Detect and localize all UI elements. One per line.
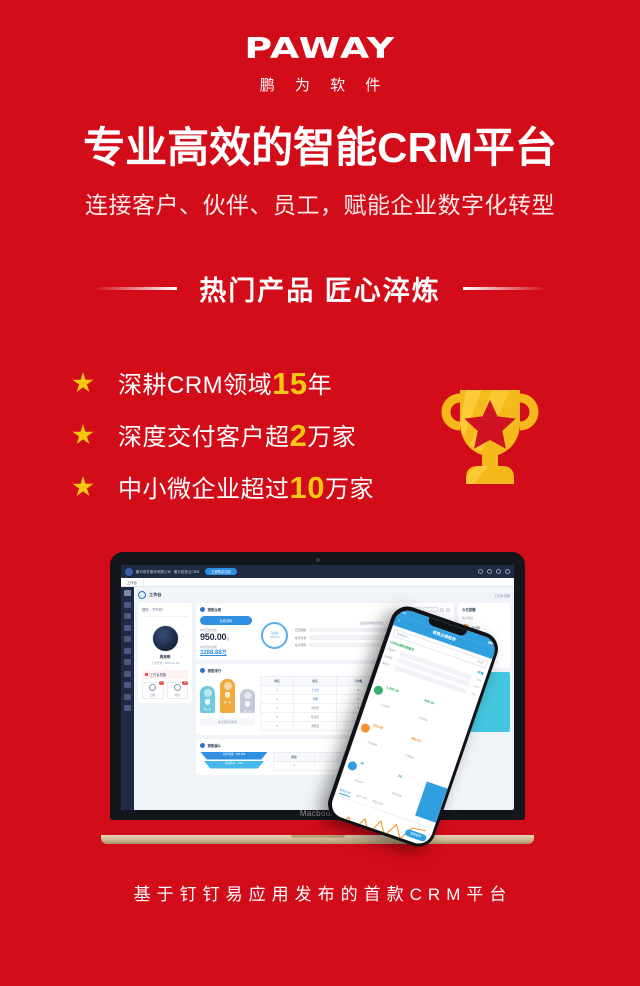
target-button[interactable]: 业绩目标 [200,616,252,625]
page-header: 工作台 工作台设置 [138,591,510,599]
podium-label: 第一名 [224,700,231,704]
sidebar-item-dashboard-icon[interactable] [124,602,131,608]
more-icon[interactable] [446,608,450,612]
workbench-icon [138,591,146,599]
stat-value-b[interactable]: 3288.88万 [200,649,256,656]
todo-item[interactable]: 3 日程 [142,682,164,699]
avatar[interactable] [152,625,179,652]
kpi-label: 新增客户 [354,778,364,784]
app-topbar: 鹏为软件股份有限公司 鹏为智慧云CRM 立即购买试用 [121,565,514,578]
list-item: 中小微企业超过10万家 [72,464,402,510]
cell-rank: 1 [261,686,294,695]
logo-wordmark: PAWAY [245,35,396,64]
podium-chart: 第二名 第一名 [200,676,255,716]
cell-rank: 2 [261,695,294,704]
sidebar-item-settings-icon[interactable] [124,682,131,688]
kpi-label: 跟进记录 [392,791,402,797]
podium-caption: 本月销售冠军榜 [200,718,255,725]
highlight-text: 中小微企业超过10万家 [118,469,374,506]
laptop-base [101,835,534,844]
sidebar-item-customers-icon[interactable] [124,613,131,619]
camera-icon [316,558,320,562]
status-time: 9:41 [401,610,408,616]
card-title: 销售排行 [208,668,222,673]
tab-opportunity[interactable]: 商机分析 [371,798,384,808]
greeting-text: 您好，下午好! [142,607,188,612]
avatar [224,682,232,690]
cell-stage: 1 [274,761,315,770]
col-name: 姓名 [294,677,337,686]
highlight-number: 15 [272,366,307,401]
laptop-notch [291,835,345,838]
col-rank: 排名 [261,677,294,686]
kpi-label: 本月回款 [380,703,390,709]
highlights-list: 深耕CRM领域15年 深度交付客户超2万家 中小微企业超过10万家 [72,360,402,516]
profile-meta: 上次登录：2024-10-09 [142,661,188,665]
topbar-product: 鹏为智慧云CRM [174,569,199,574]
profile-block: 周亮明 上次登录：2024-10-09 [142,621,188,668]
divider-line-right-icon [463,287,543,290]
cell-rank: 3 [261,704,294,713]
trophy-icon [430,372,550,490]
stat-value-a: 950.00万 [200,632,256,642]
page-title: 工作台 [149,592,162,598]
filter-button[interactable]: 筛选 [477,659,484,665]
podium-label: 第三名 [244,709,251,713]
hero-subhead: 连接客户、伙伴、员工，赋能企业数字化转型 [0,186,640,220]
todo-header: 工作台提醒 [142,670,188,679]
cell-name: 王小虎 [294,686,337,695]
card-action[interactable]: 详情 [477,669,485,676]
sidebar-item-products-icon[interactable] [124,648,131,654]
status-icons: ▮▮▮ [488,640,494,645]
sidebar-item-help-icon[interactable] [124,694,131,700]
highlight-number: 2 [290,418,308,453]
avatar [244,692,252,699]
list-item: 深耕CRM领域15年 [72,360,402,406]
cell-name: 黄晓燕 [294,722,337,731]
card-title: 今日提醒 [462,607,506,612]
section-divider: 热门产品 匠心淬炼 [0,269,640,308]
donut-value: 108.27% [269,636,279,639]
profile-card: 您好，下午好! 周亮明 上次登录：2024-10-09 [138,603,192,703]
sidebar-item-reports-icon[interactable] [124,659,131,665]
todo-badge: 3 [159,681,164,685]
funnel-segment-label: 初步沟通：458,800 [200,752,268,758]
funnel-segment-label: 意向客户：8.66 [204,761,265,767]
trophy-icon [225,692,230,698]
laptop-brand-label: Macbook [110,809,525,818]
kpi-text: 1,295.36本月回款 [379,675,403,713]
star-icon [72,476,94,498]
todo-badge: 12 [182,681,188,685]
card-subtitle: 客户跟进 [462,616,506,620]
todo-grid: 3 日程 12 待办 [142,682,188,699]
back-icon[interactable]: ‹ [397,618,401,624]
sidebar-item-alerts-icon[interactable] [124,705,131,711]
kpi-value: 502.88 [373,723,384,730]
calendar-icon [149,684,156,691]
todo-item[interactable]: 12 待办 [167,682,189,699]
podium-label: 第二名 [204,707,211,711]
completion-donut-chart: 完成率 108.27% [261,622,288,649]
trophy-icon [245,701,250,707]
card-icon [200,607,205,612]
clock-icon [174,684,181,691]
kpi-label: 待回款额 [367,741,377,747]
funnel-segment: 意向客户：8.66 [204,761,265,769]
bar-value: 72% [472,676,481,682]
cell-name: 李娜 [294,695,337,704]
tab-trend[interactable]: 趋势分析 [339,787,352,797]
user-icon[interactable] [505,569,510,574]
kpi-text: 36新增客户 [353,751,374,788]
podium-first: 第一名 [220,679,235,713]
todo-label: 日程 [150,693,155,697]
sidebar-item-orders-icon[interactable] [124,636,131,642]
kpi-label: 本月签单 [418,716,428,722]
brand-logo: PAWAY 鹏 为 软 件 [0,34,640,95]
bar-label: 已回款 [387,647,399,654]
kpi-value: 1,295.36 [386,685,400,693]
bar-label: 客户预算 [293,643,306,647]
bar-value: 45% [467,691,476,697]
buy-trial-button[interactable]: 立即购买试用 [205,568,236,576]
avatar [204,689,212,697]
card-icon [200,668,205,673]
dashboard-col-left: 您好，下午好! 周亮明 上次登录：2024-10-09 [138,603,192,779]
highlight-text: 深度交付客户超2万家 [118,417,356,454]
section-title: 热门产品 匠心淬炼 [199,269,441,308]
list-item: 深度交付客户超2万家 [72,412,402,458]
podium-third: 第三名 [240,689,255,713]
trophy-icon [205,699,210,705]
bar-label: 已回款额 [293,628,306,632]
workbench-settings-link[interactable]: 工作台设置 [494,593,510,598]
topbar-actions [478,569,510,574]
cell-name: 陈志宏 [294,713,337,722]
kpi-value: 486.52 [411,736,422,743]
footer-caption: 基于钉钉易应用发布的首款CRM平台 [0,880,640,905]
app-tabbar: 工作台 [121,578,514,587]
highlight-text: 深耕CRM领域15年 [118,365,332,402]
funnel-segment: 初步沟通：458,800 [200,752,268,760]
bar-label: 签单额 [384,654,396,661]
todo-title: 工作台提醒 [150,672,166,677]
alert-icon [145,673,148,676]
highlight-number: 10 [290,470,325,505]
hero-headline: 专业高效的智能CRM平台 [0,125,640,171]
kpi-value: 468.20 [424,698,435,705]
refresh-icon[interactable] [440,608,444,612]
profile-name: 周亮明 [142,655,188,660]
sidebar-item-contacts-icon[interactable] [124,625,131,631]
podium-second: 第二名 [200,686,215,713]
divider [142,616,188,617]
tab-workbench[interactable]: 工作台 [121,578,144,586]
settings-icon[interactable] [496,569,501,574]
kpi-value: 36 [360,760,365,765]
todo-label: 待办 [175,693,180,697]
star-icon [72,424,94,446]
sidebar-item-home-icon[interactable] [124,590,131,596]
app-sidebar [121,587,134,810]
search-icon[interactable] [478,569,483,574]
card-icon [200,743,205,748]
col-stage: 阶段 [274,752,315,761]
bar-label: 本月签单 [293,636,306,640]
funnel-chart: 初步沟通：458,800 意向客户：8.66 [200,752,268,769]
card-title: 销售业绩 [208,607,222,612]
bar-value: 61% [470,683,479,689]
sidebar-item-team-icon[interactable] [124,671,131,677]
cell-rank: 4 [261,713,294,722]
bar-label: 新客户 [382,661,394,668]
card-title: 销售漏斗 [208,743,222,748]
wallet-icon [359,722,370,733]
kpi-value: 28 [398,773,403,778]
topbar-company: 鹏为软件股份有限公司 [136,569,171,574]
money-icon [372,684,383,695]
apps-icon[interactable] [487,569,492,574]
app-logo-icon [125,568,133,576]
cell-rank: 5 [261,722,294,731]
star-icon [72,372,94,394]
divider-line-left-icon [97,287,177,290]
kpi-label: 新增商机 [405,754,415,760]
device-mockup: 鹏为软件股份有限公司 鹏为智慧云CRM 立即购买试用 工作台 [105,552,537,844]
cell-name: 刘志华 [294,704,337,713]
users-icon [346,760,357,771]
search-placeholder: 搜索客户 [396,631,409,639]
tab-customer[interactable]: 客户分析 [355,793,368,803]
logo-subtitle: 鹏 为 软 件 [0,74,640,95]
kpi-text: 502.88待回款额 [366,713,388,750]
